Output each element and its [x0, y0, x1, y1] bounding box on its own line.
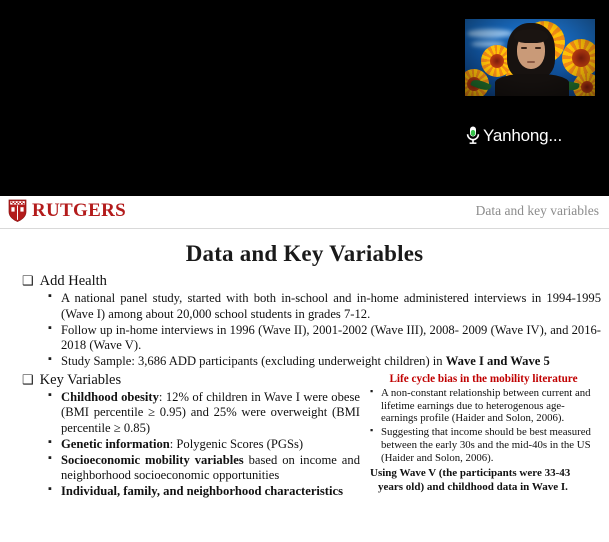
list-item: Genetic information: Polygenic Scores (P… [48, 437, 360, 452]
study-sample-waves: Wave I and Wave 5 [446, 354, 550, 368]
add-health-bullet-list: A national panel study, started with bot… [48, 291, 601, 369]
section-heading-key-variables: ❑ Key Variables [22, 372, 360, 389]
life-cycle-bias-callout: Life cycle bias in the mobility literatu… [360, 370, 601, 494]
participant-name-label: Yanhong... [483, 127, 562, 144]
callout-conclusion-line-1: Using Wave V (the participants were 33-4… [370, 467, 570, 479]
participant-name-plate: Yanhong... [465, 122, 595, 148]
callout-conclusion-line-2: years old) and childhood data in Wave I. [370, 481, 601, 494]
slide-body: ❑ Add Health A national panel study, sta… [0, 273, 609, 500]
hollow-square-bullet-icon: ❑ [22, 274, 34, 287]
list-item: A national panel study, started with bot… [48, 291, 601, 322]
key-variables-bullet-list: Childhood obesity: 12% of children in Wa… [48, 390, 360, 499]
list-item: A non-constant relationship between curr… [370, 387, 601, 426]
list-item: Study Sample: 3,686 ADD participants (ex… [48, 354, 601, 369]
list-item: Socioeconomic mobility variables based o… [48, 453, 360, 484]
bullet-rest: : Polygenic Scores (PGSs) [170, 437, 303, 451]
list-item: Follow up in-home interviews in 1996 (Wa… [48, 323, 601, 354]
rutgers-wordmark: RUTGERS [32, 201, 126, 220]
slide-header: RUTGERS Data and key variables [0, 196, 609, 229]
key-variables-region: ❑ Key Variables Childhood obesity: 12% o… [8, 370, 601, 500]
rutgers-shield-icon [8, 199, 27, 222]
video-call-strip: Yanhong... [0, 0, 609, 196]
rutgers-brand: RUTGERS [8, 199, 126, 222]
list-item: Individual, family, and neighborhood cha… [48, 484, 360, 499]
section-heading-add-health: ❑ Add Health [22, 273, 601, 290]
hollow-square-bullet-icon: ❑ [22, 373, 34, 386]
study-sample-lead: Study Sample: 3,686 ADD participants (ex… [61, 354, 446, 368]
section-heading-label: Add Health [40, 273, 107, 290]
bullet-bold-lead: Childhood obesity [61, 390, 159, 404]
bullet-bold-lead: Individual, family, and neighborhood cha… [61, 484, 343, 498]
video-vignette [465, 19, 595, 96]
slide-title: Data and Key Variables [0, 241, 609, 267]
bullet-bold-lead: Genetic information [61, 437, 170, 451]
callout-title: Life cycle bias in the mobility literatu… [366, 373, 601, 386]
shared-slide: RUTGERS Data and key variables Data and … [0, 196, 609, 542]
section-heading-label: Key Variables [40, 372, 121, 389]
slide-header-subject: Data and key variables [476, 204, 599, 218]
bullet-bold-lead: Socioeconomic mobility variables [61, 453, 244, 467]
participant-video-tile[interactable] [465, 19, 595, 96]
callout-conclusion: Using Wave V (the participants were 33-4… [370, 467, 601, 494]
microphone-icon[interactable] [465, 125, 481, 145]
screen-share-window: Yanhong... [0, 0, 609, 542]
list-item: Suggesting that income should be best me… [370, 426, 601, 465]
callout-bullet-list: A non-constant relationship between curr… [370, 387, 601, 466]
key-variables-column: ❑ Key Variables Childhood obesity: 12% o… [8, 370, 360, 500]
list-item: Childhood obesity: 12% of children in Wa… [48, 390, 360, 436]
